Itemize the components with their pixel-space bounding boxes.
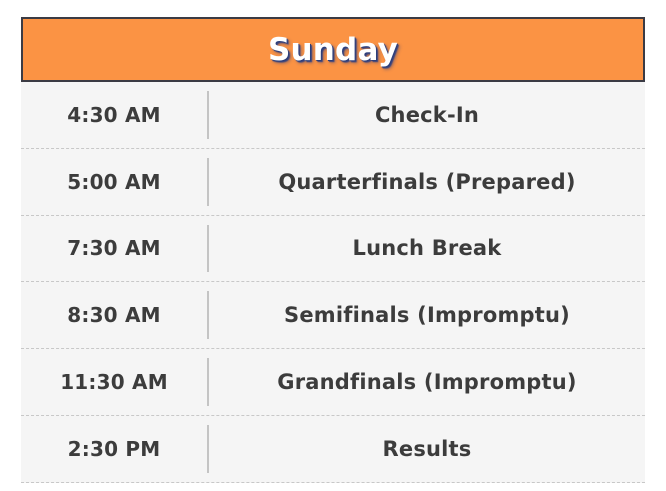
table-row: 4:30 AM Check-In [21,82,645,149]
day-header-banner: Sunday [21,17,645,82]
cell-time: 11:30 AM [21,349,207,415]
cell-event: Semifinals (Impromptu) [207,282,645,348]
cell-event: Quarterfinals (Prepared) [207,149,645,215]
table-row: 8:30 AM Semifinals (Impromptu) [21,282,645,349]
cell-event: Grandfinals (Impromptu) [207,349,645,415]
table-row: 11:30 AM Grandfinals (Impromptu) [21,349,645,416]
cell-time: 5:00 AM [21,149,207,215]
table-row: 5:00 AM Quarterfinals (Prepared) [21,149,645,216]
cell-time: 4:30 AM [21,82,207,148]
cell-time: 2:30 PM [21,416,207,482]
cell-event: Check-In [207,82,645,148]
cell-time: 8:30 AM [21,282,207,348]
day-header-title: Sunday [268,32,398,68]
table-row: 7:30 AM Lunch Break [21,216,645,283]
schedule-table: Sunday 4:30 AM Check-In 5:00 AM Quarterf… [21,17,645,483]
schedule-body: 4:30 AM Check-In 5:00 AM Quarterfinals (… [21,82,645,483]
table-row: 2:30 PM Results [21,416,645,483]
cell-time: 7:30 AM [21,216,207,282]
cell-event: Lunch Break [207,216,645,282]
cell-event: Results [207,416,645,482]
